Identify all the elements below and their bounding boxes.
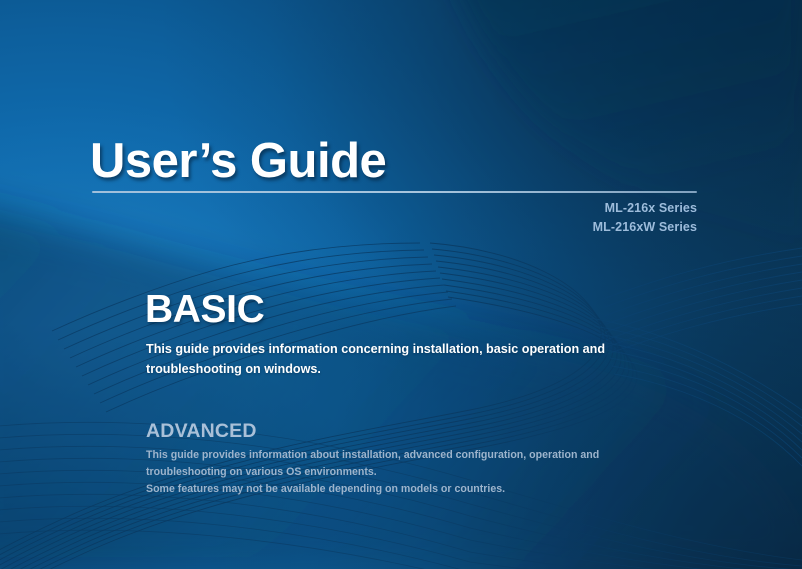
advanced-section-description: This guide provides information about in… <box>146 447 616 498</box>
advanced-description-line-3: Some features may not be available depen… <box>146 481 616 498</box>
model-series-list: ML-216x Series ML-216xW Series <box>593 199 697 237</box>
basic-section-description: This guide provides information concerni… <box>146 340 616 379</box>
model-series-item-2: ML-216xW Series <box>593 218 697 237</box>
advanced-description-line-1: This guide provides information about in… <box>146 447 616 464</box>
advanced-section-heading: ADVANCED <box>146 420 257 443</box>
advanced-description-line-2: troubleshooting on various OS environmen… <box>146 464 616 481</box>
model-series-item-1: ML-216x Series <box>593 199 697 218</box>
page-title: User’s Guide <box>90 133 386 189</box>
cover-content: User’s Guide ML-216x Series ML-216xW Ser… <box>0 0 802 569</box>
users-guide-cover-page: User’s Guide ML-216x Series ML-216xW Ser… <box>0 0 802 569</box>
basic-section-heading: BASIC <box>145 288 264 332</box>
title-divider-rule <box>92 191 697 193</box>
basic-description-line-2: troubleshooting on windows. <box>146 360 616 380</box>
basic-description-line-1: This guide provides information concerni… <box>146 340 616 360</box>
